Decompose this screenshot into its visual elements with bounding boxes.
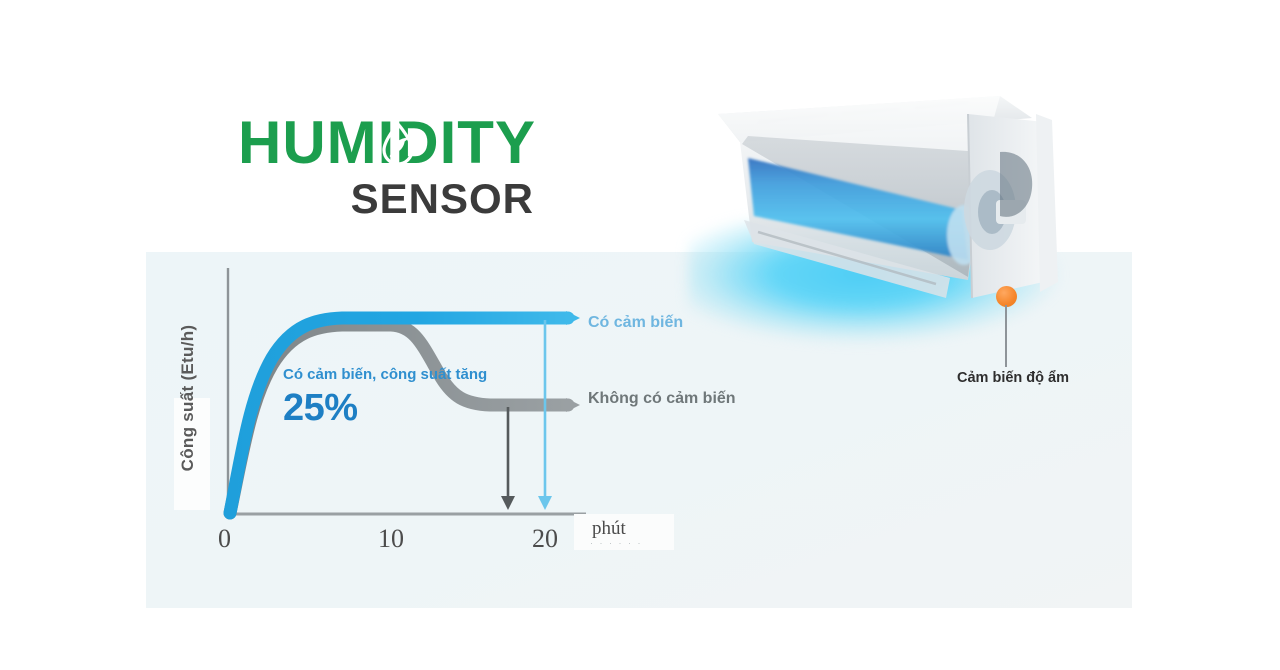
- x-tick-0: 0: [218, 524, 231, 554]
- x-axis-label-dots: · · · · · ·: [590, 538, 643, 548]
- humidity-sensor-caption: Cảm biến độ ẩm: [938, 370, 1088, 386]
- humidity-sensor-infographic: HUMIDITY SENSOR: [0, 0, 1280, 670]
- air-conditioner-unit-graphic: [700, 92, 1140, 322]
- dropline-arrow-sensor: [538, 496, 552, 510]
- humidity-sensor-marker-dot: [996, 286, 1017, 307]
- page-subtitle: SENSOR: [238, 176, 538, 222]
- legend-label-without-sensor: Không có cảm biến: [588, 390, 736, 408]
- x-axis-label: phút: [592, 518, 626, 540]
- dropline-arrow-no-sensor: [501, 496, 515, 510]
- humidity-sensor-leader-line: [1005, 305, 1007, 367]
- title-block: HUMIDITY SENSOR: [238, 112, 538, 222]
- page-title: HUMIDITY: [238, 112, 538, 174]
- series-arrow-sensor: [566, 311, 580, 325]
- series-arrow-no-sensor: [566, 398, 580, 412]
- air-conditioner-image: [700, 92, 1140, 337]
- legend-label-with-sensor: Có cảm biến: [588, 314, 683, 332]
- annotation-efficiency-gain: Có cảm biến, công suất tăng 25%: [283, 362, 493, 428]
- annotation-value: 25%: [283, 387, 358, 429]
- y-axis-label-text: Công suất (Etu/h): [178, 283, 208, 513]
- x-tick-10: 10: [378, 524, 404, 554]
- x-tick-20: 20: [532, 524, 558, 554]
- y-axis-label: Công suất (Etu/h): [174, 280, 210, 510]
- water-drop-leaf-icon: [380, 122, 416, 166]
- annotation-text: Có cảm biến, công suất tăng: [283, 366, 487, 383]
- x-axis-unit-box: phút · · · · · ·: [574, 514, 674, 550]
